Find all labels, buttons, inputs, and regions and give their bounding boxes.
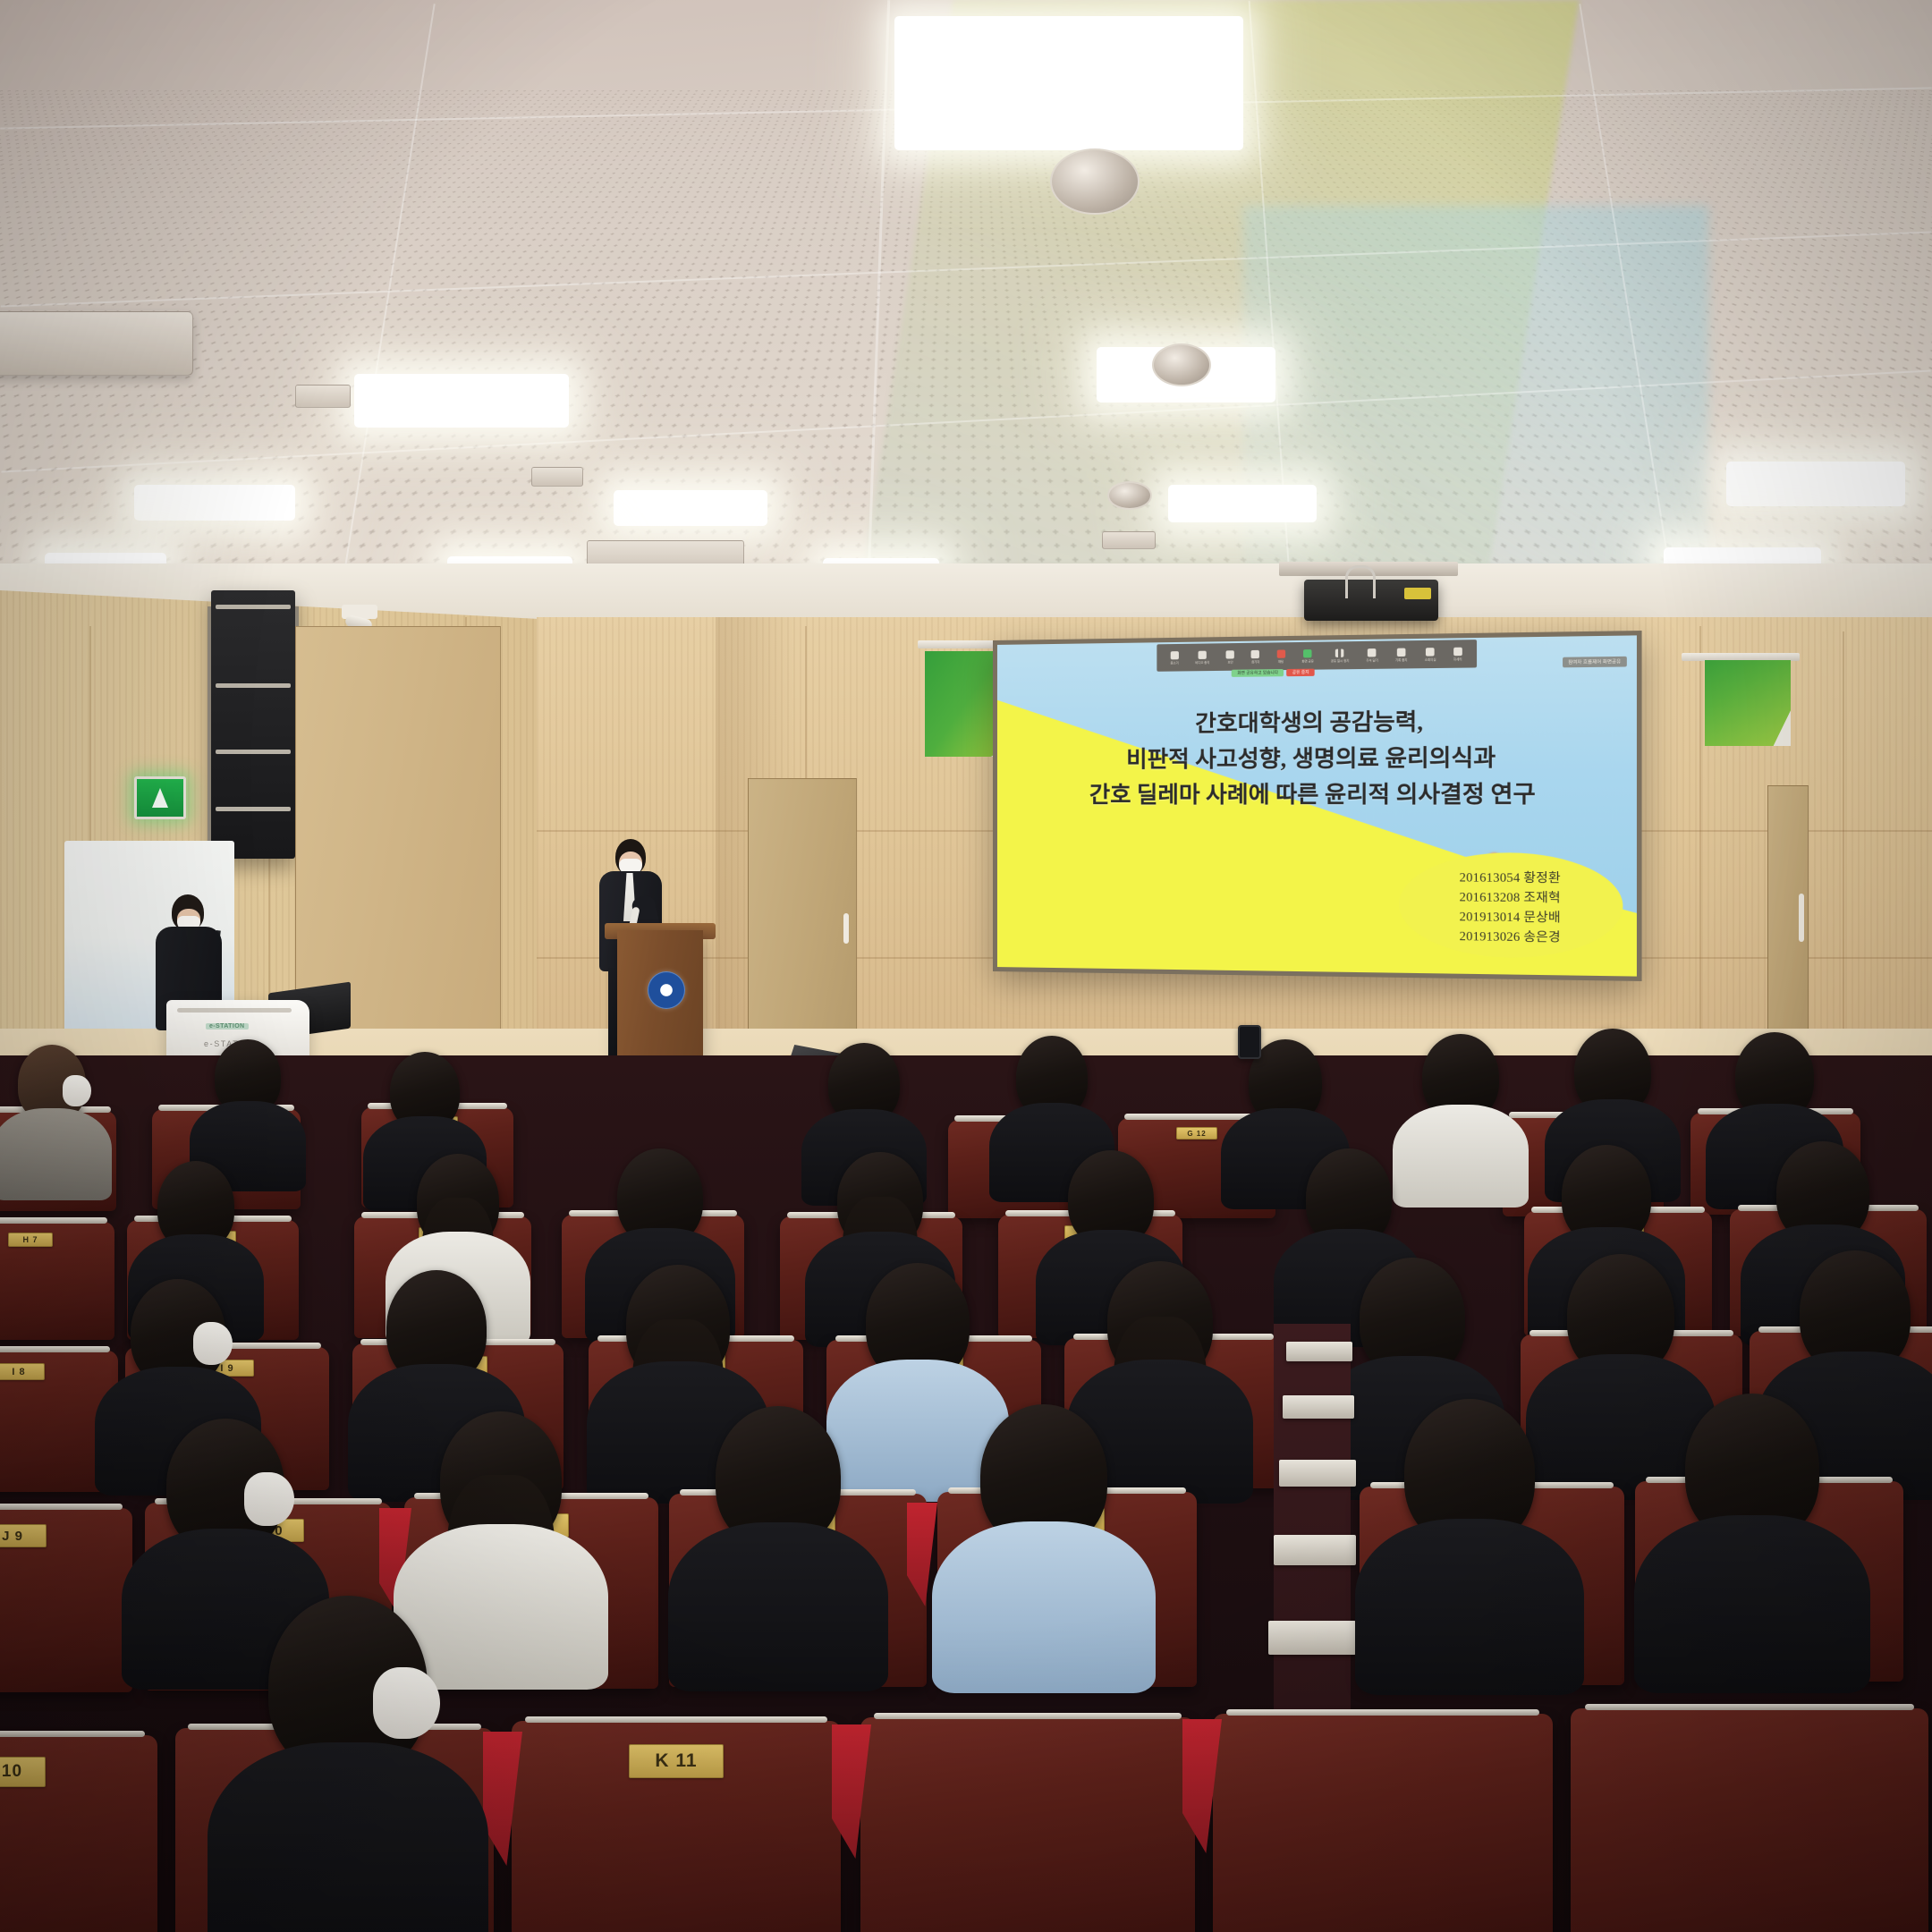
ceiling-light: [134, 485, 295, 521]
author-2: 201613208 조재혁: [1460, 885, 1561, 905]
person-shoulders: [208, 1742, 487, 1932]
record-icon: [1397, 648, 1406, 656]
audience-person: [866, 1263, 970, 1381]
seat-plate: K 11: [629, 1744, 724, 1778]
ceiling: [0, 0, 1932, 626]
seat-K[interactable]: [1213, 1714, 1553, 1932]
ceiling-light: [354, 374, 569, 428]
zoom-share-status-bar: 화면 공유하고 있습니다 공유 중지: [1232, 669, 1315, 677]
face-mask-icon: [373, 1667, 440, 1739]
zoom-breakout-button[interactable]: 소회의실: [1425, 648, 1436, 662]
face-mask-icon: [244, 1472, 293, 1526]
audience-person: [1735, 1032, 1814, 1120]
zoom-chat-button[interactable]: 채팅: [1276, 649, 1284, 664]
av-station-brand: e-STATION: [206, 1023, 249, 1030]
seat-plate: K 10: [0, 1757, 46, 1787]
audience-person: [386, 1270, 487, 1385]
author-1: 201613054 황정환: [1460, 866, 1561, 885]
seat-K[interactable]: [860, 1717, 1195, 1932]
slide-title: 간호대학생의 공감능력, 비판적 사고성향, 생명의료 윤리의식과 간호 딜레마…: [997, 704, 1637, 814]
aisle-step: [1286, 1342, 1352, 1361]
slide-title-line-3: 간호 딜레마 사례에 따른 윤리적 의사결정 연구: [1012, 777, 1621, 814]
annotate-icon: [1368, 648, 1377, 657]
audience-person: [1800, 1250, 1911, 1374]
more-icon: [1453, 647, 1462, 656]
zoom-meeting-toolbar[interactable]: 음소거 비디오 중지 보안 참가자 채팅: [1157, 640, 1477, 672]
audience-seating-area: G 8 G 9 G 10 G 11 G 12: [0, 1055, 1932, 1932]
zoom-security-button[interactable]: 보안: [1226, 650, 1234, 664]
audience-person: [157, 1161, 234, 1250]
security-camera-icon: [342, 605, 377, 619]
event-banner-right: [1705, 660, 1791, 746]
person-shoulders: [932, 1521, 1156, 1693]
air-vent: [531, 467, 583, 487]
participants-icon: [1251, 649, 1259, 657]
seat-K[interactable]: K 11: [512, 1721, 841, 1932]
air-vent: [1102, 531, 1156, 549]
zoom-pause-share-button[interactable]: 공유 일시 정지: [1331, 648, 1349, 663]
pause-icon: [1335, 648, 1344, 657]
face-mask-icon: [63, 1075, 91, 1106]
audience-person: [1404, 1399, 1535, 1546]
audience-person: [617, 1148, 703, 1245]
person-shoulders: [1634, 1515, 1870, 1693]
projector: [1304, 580, 1438, 621]
auditorium-photo: 일시 : 2 음소거 비디오 중지 보안: [0, 0, 1932, 1932]
seat-plate: J 9: [0, 1524, 47, 1547]
audience-person: [1776, 1141, 1869, 1243]
banner-green-swoosh: [1705, 660, 1791, 746]
seat-J[interactable]: J 9: [0, 1508, 132, 1692]
aisle-step: [1274, 1535, 1356, 1565]
audience-person: [268, 1596, 428, 1775]
author-3: 201913014 문상배: [1460, 905, 1561, 925]
audience-person: [1422, 1034, 1499, 1120]
university-emblem: [648, 971, 685, 1009]
zoom-mute-button[interactable]: 음소거: [1171, 651, 1179, 665]
audience-person: [1016, 1036, 1088, 1118]
aisle-step: [1283, 1395, 1354, 1419]
seat-plate: H 7: [8, 1233, 53, 1247]
seat-plate: G 12: [1176, 1127, 1217, 1140]
ceiling-light: [614, 490, 767, 526]
ceiling-speaker: [1107, 481, 1152, 510]
ceiling-light: [1168, 485, 1317, 522]
audience-person: [1562, 1145, 1651, 1245]
aisle-step: [1279, 1460, 1356, 1487]
zoom-share-screen-button[interactable]: 화면 공유: [1302, 648, 1314, 663]
door-handle[interactable]: [843, 913, 849, 944]
ceiling-light: [894, 16, 1243, 150]
stop-share-button[interactable]: 공유 중지: [1286, 669, 1314, 677]
audience-person: [1306, 1148, 1392, 1247]
smartphone: [1238, 1025, 1261, 1059]
audience-person: [215, 1039, 281, 1114]
audience-person: [131, 1279, 225, 1386]
audience-person: [626, 1265, 730, 1383]
zoom-corner-chip: 참여자 흐름제어 화면공유: [1563, 657, 1627, 668]
audience-person: [440, 1411, 562, 1549]
ceiling-light: [1726, 462, 1905, 506]
chat-icon: [1276, 649, 1284, 657]
audience-person: [980, 1404, 1107, 1547]
seat-K[interactable]: K 10: [0, 1735, 157, 1932]
aisle-step: [1268, 1621, 1356, 1655]
seat-H[interactable]: H 7: [0, 1222, 114, 1340]
ceiling-speaker: [1050, 148, 1140, 215]
wall-seam: [1843, 631, 1844, 1079]
zoom-record-button[interactable]: 기록 중지: [1395, 648, 1407, 662]
audience-person: [1107, 1261, 1213, 1381]
audience-person: [18, 1045, 86, 1122]
slide-title-line-2: 비판적 사고성향, 생명의료 윤리의식과: [1012, 741, 1621, 779]
zoom-video-button[interactable]: 비디오 중지: [1195, 650, 1209, 665]
wall-seam: [1699, 626, 1701, 1073]
zoom-annotate-button[interactable]: 주석 달기: [1366, 648, 1377, 662]
breakout-icon: [1426, 648, 1435, 656]
microphone-icon: [1171, 651, 1179, 659]
person-shoulders: [668, 1522, 888, 1692]
share-status-green: 화면 공유하고 있습니다: [1232, 669, 1284, 677]
person-shoulders: [1393, 1105, 1528, 1207]
audience-person: [1685, 1394, 1819, 1542]
share-screen-icon: [1303, 649, 1311, 657]
person-shoulders: [0, 1108, 112, 1200]
ac-diffuser: [0, 311, 193, 376]
seat-K[interactable]: [1571, 1708, 1928, 1932]
door-handle[interactable]: [1799, 894, 1804, 942]
audience-person: [828, 1043, 900, 1123]
audience-person: [1068, 1150, 1154, 1247]
author-4: 201913026 송은경: [1460, 925, 1561, 945]
line-array-speaker: [211, 590, 295, 859]
seat-plate: I 8: [0, 1363, 45, 1380]
audience-person: [1360, 1258, 1465, 1377]
zoom-more-button[interactable]: 자세히: [1453, 647, 1462, 661]
running-man-glyph: [152, 788, 168, 808]
security-icon: [1226, 650, 1234, 658]
exit-sign-icon: [134, 776, 186, 819]
audience-person: [166, 1419, 284, 1553]
audience-person: [417, 1154, 499, 1249]
air-vent: [295, 385, 351, 408]
zoom-participants-button[interactable]: 참가자: [1251, 649, 1259, 663]
audience-person: [716, 1406, 841, 1547]
presentation-slide: 음소거 비디오 중지 보안 참가자 채팅: [997, 635, 1637, 976]
slide-title-line-1: 간호대학생의 공감능력,: [1012, 704, 1621, 744]
person-shoulders: [1355, 1519, 1585, 1695]
audience-person: [390, 1052, 460, 1131]
audience-person: [1567, 1254, 1674, 1376]
projection-screen: 음소거 비디오 중지 보안 참가자 채팅: [993, 631, 1642, 981]
ceiling-speaker: [1152, 343, 1211, 386]
video-camera-icon: [1199, 650, 1207, 658]
av-station-slot: [177, 1008, 292, 1013]
audience-person: [1574, 1029, 1651, 1114]
audience-person: [837, 1152, 923, 1249]
